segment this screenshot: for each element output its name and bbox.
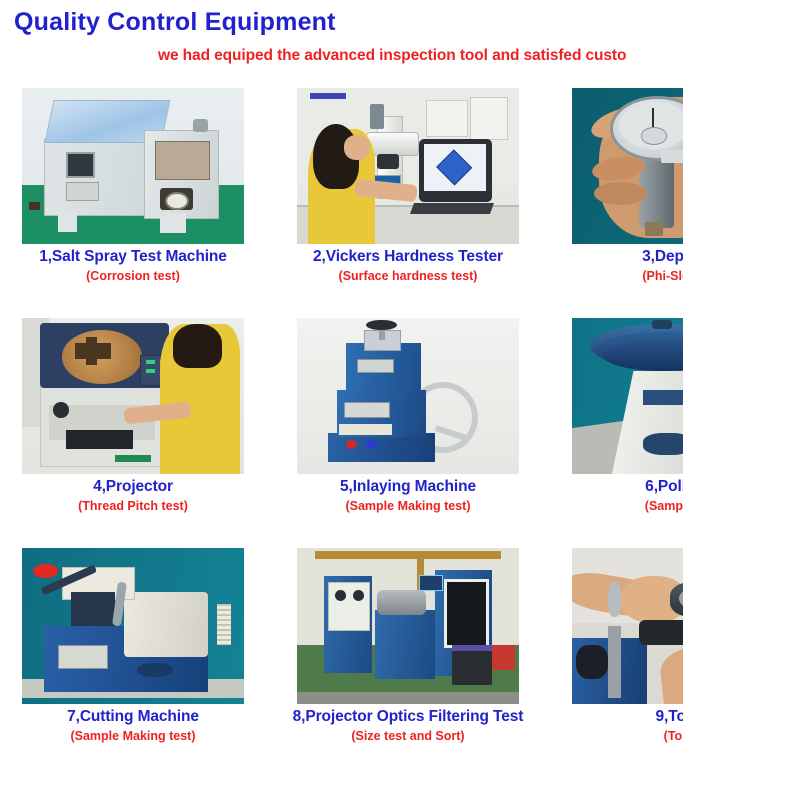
equipment-photo-vickers-hardness-tester[interactable] (297, 88, 519, 244)
equipment-photo-projector-optics-filtering[interactable] (297, 548, 519, 704)
equipment-name: 5,Inlaying Machine (277, 478, 539, 496)
equipment-test-type: (Corrosion test) (2, 269, 264, 283)
equipment-row: 7,Cutting Machine (Sample Making test) (0, 548, 800, 778)
equipment-item-5[interactable]: 5,Inlaying Machine (Sample Making test) (297, 318, 547, 548)
equipment-item-4[interactable]: 4,Projector (Thread Pitch test) (22, 318, 272, 548)
equipment-caption: 4,Projector (Thread Pitch test) (2, 478, 264, 513)
equipment-test-type: (Sample Making test) (2, 729, 264, 743)
equipment-photo-salt-spray-test-machine[interactable] (22, 88, 244, 244)
equipment-item-8[interactable]: 8,Projector Optics Filtering Test (Size … (297, 548, 547, 778)
equipment-test-type: (Size test and Sort) (277, 729, 539, 743)
page-title: Quality Control Equipment (14, 8, 336, 37)
equipment-photo-inlaying-machine[interactable] (297, 318, 519, 474)
equipment-name: 7,Cutting Machine (2, 708, 264, 726)
equipment-row: 1,Salt Spray Test Machine (Corrosion tes… (0, 88, 800, 318)
clipped-right-margin (683, 0, 800, 800)
equipment-row: 4,Projector (Thread Pitch test) 5,Inlayi… (0, 318, 800, 548)
equipment-name: 4,Projector (2, 478, 264, 496)
equipment-name: 8,Projector Optics Filtering Test (277, 708, 539, 726)
equipment-item-7[interactable]: 7,Cutting Machine (Sample Making test) (22, 548, 272, 778)
equipment-item-1[interactable]: 1,Salt Spray Test Machine (Corrosion tes… (22, 88, 272, 318)
equipment-caption: 8,Projector Optics Filtering Test (Size … (277, 708, 539, 743)
equipment-test-type: (Surface hardness test) (277, 269, 539, 283)
equipment-name: 1,Salt Spray Test Machine (2, 248, 264, 266)
equipment-caption: 5,Inlaying Machine (Sample Making test) (277, 478, 539, 513)
equipment-test-type: (Sample Making test) (277, 499, 539, 513)
equipment-photo-projector[interactable] (22, 318, 244, 474)
equipment-item-2[interactable]: 2,Vickers Hardness Tester (Surface hardn… (297, 88, 547, 318)
equipment-test-type: (Thread Pitch test) (2, 499, 264, 513)
equipment-name: 2,Vickers Hardness Tester (277, 248, 539, 266)
equipment-caption: 2,Vickers Hardness Tester (Surface hardn… (277, 248, 539, 283)
equipment-photo-cutting-machine[interactable] (22, 548, 244, 704)
page-subtitle: we had equiped the advanced inspection t… (158, 47, 626, 65)
equipment-caption: 7,Cutting Machine (Sample Making test) (2, 708, 264, 743)
equipment-grid: 1,Salt Spray Test Machine (Corrosion tes… (0, 88, 800, 778)
equipment-caption: 1,Salt Spray Test Machine (Corrosion tes… (2, 248, 264, 283)
catalog-page: Quality Control Equipment we had equiped… (0, 0, 800, 800)
